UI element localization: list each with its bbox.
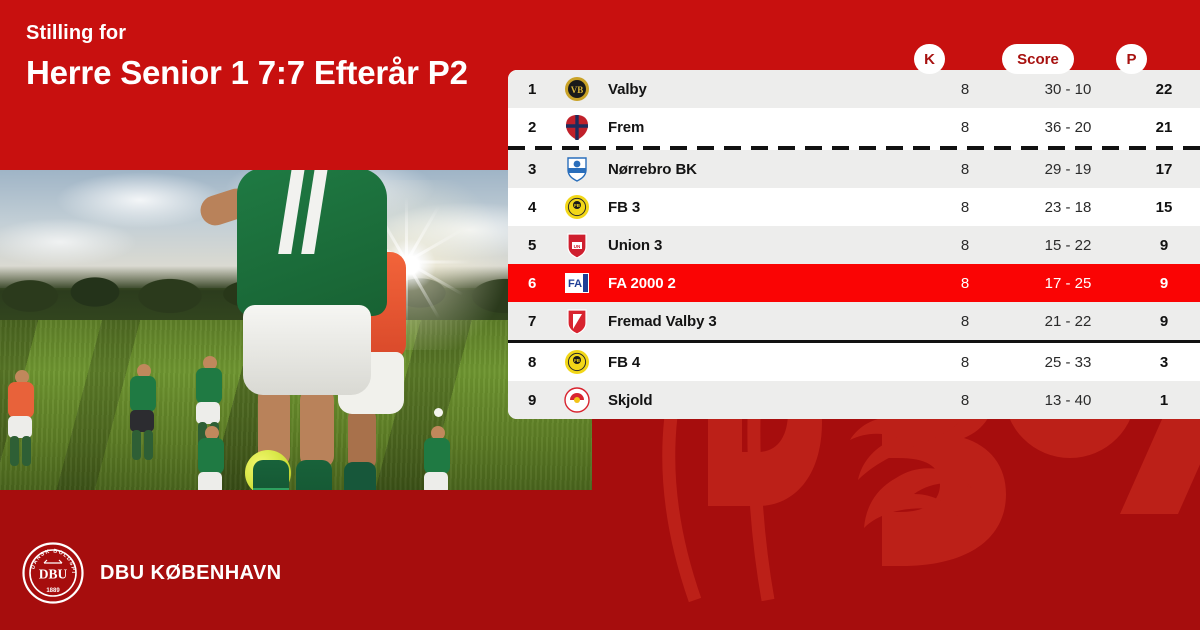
svg-text:FB: FB — [574, 203, 580, 208]
row-points: 9 — [1128, 275, 1200, 292]
football-match-photo — [0, 170, 592, 490]
header-eyebrow: Stilling for — [26, 22, 126, 45]
row-goal-score: 13 - 40 — [1008, 392, 1128, 409]
photo-player-main-shorts — [243, 305, 371, 395]
row-team-name: FA 2000 2 — [600, 275, 922, 292]
skjold-crest-icon — [554, 387, 600, 413]
table-row[interactable]: 2 Frem836 - 2021 — [508, 108, 1200, 146]
footer: DANSK BOLDSPIL UNION DBU 1889 DBU KØBENH… — [0, 520, 1200, 630]
row-team-name: Union 3 — [600, 237, 922, 254]
svg-text:UN: UN — [574, 244, 581, 249]
row-goal-score: 29 - 19 — [1008, 161, 1128, 178]
table-row[interactable]: 7 Fremad Valby 3821 - 229 — [508, 302, 1200, 340]
fa2000-crest-icon: FA — [554, 270, 600, 296]
table-row[interactable]: 4 FBFB 3823 - 1815 — [508, 188, 1200, 226]
row-team-name: Fremad Valby 3 — [600, 313, 922, 330]
row-team-name: Valby — [600, 81, 922, 98]
photo-player-orange-sock — [344, 462, 376, 490]
row-matches-played: 8 — [922, 81, 1008, 98]
valby-crest-icon: VB — [554, 76, 600, 102]
photo-player-main-sock — [296, 460, 332, 490]
row-matches-played: 8 — [922, 313, 1008, 330]
row-rank: 1 — [508, 81, 554, 98]
row-matches-played: 8 — [922, 275, 1008, 292]
row-rank: 6 — [508, 275, 554, 292]
column-header-k: K — [914, 44, 945, 74]
row-rank: 5 — [508, 237, 554, 254]
row-rank: 9 — [508, 392, 554, 409]
table-row[interactable]: 9 Skjold813 - 401 — [508, 381, 1200, 419]
table-row[interactable]: 6 FA FA 2000 2817 - 259 — [508, 264, 1200, 302]
row-rank: 3 — [508, 161, 554, 178]
row-points: 3 — [1128, 354, 1200, 371]
table-row[interactable]: 8 FBFB 4825 - 333 — [508, 343, 1200, 381]
row-goal-score: 30 - 10 — [1008, 81, 1128, 98]
row-team-name: FB 4 — [600, 354, 922, 371]
column-header-p: P — [1116, 44, 1147, 74]
row-matches-played: 8 — [922, 161, 1008, 178]
row-matches-played: 8 — [922, 392, 1008, 409]
row-points: 15 — [1128, 199, 1200, 216]
row-goal-score: 15 - 22 — [1008, 237, 1128, 254]
row-rank: 7 — [508, 313, 554, 330]
standings-table: 1 VBValby830 - 10222 Frem836 - 20213 Nør… — [508, 70, 1200, 419]
svg-text:1889: 1889 — [46, 588, 60, 594]
svg-text:FA: FA — [568, 278, 582, 290]
row-matches-played: 8 — [922, 237, 1008, 254]
photo-player-main-leg — [300, 388, 334, 468]
footer-organisation-label: DBU KØBENHAVN — [100, 562, 282, 585]
photo-player-main-sock — [253, 460, 289, 490]
row-rank: 4 — [508, 199, 554, 216]
row-points: 1 — [1128, 392, 1200, 409]
frem-crest-icon — [554, 114, 600, 140]
column-header-score: Score — [1002, 44, 1074, 74]
fb-crest-icon: FB — [554, 194, 600, 220]
row-goal-score: 23 - 18 — [1008, 199, 1128, 216]
norrebro-bk-crest-icon — [554, 156, 600, 182]
svg-text:DBU: DBU — [39, 567, 68, 582]
row-points: 21 — [1128, 119, 1200, 136]
row-points: 17 — [1128, 161, 1200, 178]
svg-text:VB: VB — [571, 85, 584, 95]
photo-player-orange-leg — [348, 408, 376, 470]
row-matches-played: 8 — [922, 354, 1008, 371]
row-points: 22 — [1128, 81, 1200, 98]
row-matches-played: 8 — [922, 199, 1008, 216]
union-crest-icon: UN — [554, 232, 600, 258]
row-rank: 2 — [508, 119, 554, 136]
row-points: 9 — [1128, 237, 1200, 254]
row-team-name: FB 3 — [600, 199, 922, 216]
row-rank: 8 — [508, 354, 554, 371]
row-goal-score: 25 - 33 — [1008, 354, 1128, 371]
row-team-name: Skjold — [600, 392, 922, 409]
table-row[interactable]: 5 UNUnion 3815 - 229 — [508, 226, 1200, 264]
fremad-valby-crest-icon — [554, 308, 600, 334]
fb-crest-icon: FB — [554, 349, 600, 375]
photo-ball-distant — [434, 408, 443, 417]
row-team-name: Frem — [600, 119, 922, 136]
dbu-logo-icon: DANSK BOLDSPIL UNION DBU 1889 — [22, 542, 84, 604]
svg-text:FB: FB — [574, 358, 580, 363]
row-goal-score: 36 - 20 — [1008, 119, 1128, 136]
row-points: 9 — [1128, 313, 1200, 330]
row-team-name: Nørrebro BK — [600, 161, 922, 178]
table-row[interactable]: 3 Nørrebro BK829 - 1917 — [508, 150, 1200, 188]
table-row[interactable]: 1 VBValby830 - 1022 — [508, 70, 1200, 108]
page-title: Herre Senior 1 7:7 Efterår P2 — [26, 52, 496, 93]
row-goal-score: 21 - 22 — [1008, 313, 1128, 330]
row-matches-played: 8 — [922, 119, 1008, 136]
row-goal-score: 17 - 25 — [1008, 275, 1128, 292]
